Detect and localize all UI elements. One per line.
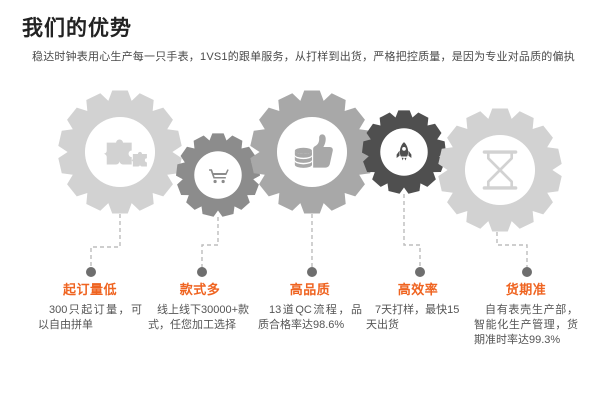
feature-item-on-time-delivery[interactable]: 货期准 自有表壳生产部，智能化生产管理，货期准时率达99.3% [474,282,578,348]
thumbsup-coins-icon [295,134,333,168]
connector-3 [307,214,317,277]
connector-dot [415,267,425,277]
gear-inner-disc [85,117,155,187]
connector-line [497,232,527,272]
feature-description: 7天打样，最快15天出货 [366,303,470,333]
feature-title: 高效率 [366,282,470,298]
gear-body [438,108,561,231]
feature-description: 自有表壳生产部，智能化生产管理，货期准时率达99.3% [474,303,578,348]
connector-2 [197,217,218,277]
gear-body [250,90,373,213]
gear-inner-disc [380,128,427,175]
page-title: 我们的优势 [22,12,132,42]
feature-title: 货期准 [474,282,578,298]
cart-icon [209,169,229,183]
connector-dot [197,267,207,277]
gear-body [176,133,260,216]
gear-5[interactable] [438,108,561,231]
advantages-slide: 我们的优势 稳达时钟表用心生产每一只手表，1VS1的跟单服务，从打样到出货，严格… [0,0,602,400]
features-row: 起订量低 300只起订量，可以自由拼单 款式多 线上线下30000+款式，任您加… [0,282,602,400]
connector-dot [307,267,317,277]
feature-description: 线上线下30000+款式，任您加工选择 [148,303,252,333]
gear-4[interactable] [362,110,446,193]
feature-item-many-styles[interactable]: 款式多 线上线下30000+款式，任您加工选择 [148,282,252,333]
rocket-icon [397,142,412,160]
gear-inner-disc [465,135,535,205]
feature-title: 款式多 [148,282,252,298]
connector-line [91,214,120,272]
connector-dot [522,267,532,277]
feature-title: 高品质 [258,282,362,298]
feature-item-min-order[interactable]: 起订量低 300只起订量，可以自由拼单 [38,282,142,333]
feature-description: 13道QC流程，品质合格率达98.6% [258,303,362,333]
gear-1[interactable] [58,90,181,213]
feature-description: 300只起订量，可以自由拼单 [38,303,142,333]
gear-inner-disc [277,117,347,187]
gear-inner-disc [194,151,241,198]
page-subtitle: 稳达时钟表用心生产每一只手表，1VS1的跟单服务，从打样到出货，严格把控质量，是… [32,48,575,64]
puzzle-icon [104,140,147,167]
feature-title: 起订量低 [38,282,142,298]
connector-1 [86,214,120,277]
gear-body [58,90,181,213]
feature-item-high-quality[interactable]: 高品质 13道QC流程，品质合格率达98.6% [258,282,362,333]
gear-3[interactable] [250,90,373,213]
connector-4 [404,194,425,277]
connector-dot [86,267,96,277]
gear-body [362,110,446,193]
feature-item-high-efficiency[interactable]: 高效率 7天打样，最快15天出货 [366,282,470,333]
connector-line [202,217,218,272]
gear-2[interactable] [176,133,260,216]
hourglass-icon [484,152,515,188]
connector-5 [497,232,532,277]
connector-line [404,194,420,272]
